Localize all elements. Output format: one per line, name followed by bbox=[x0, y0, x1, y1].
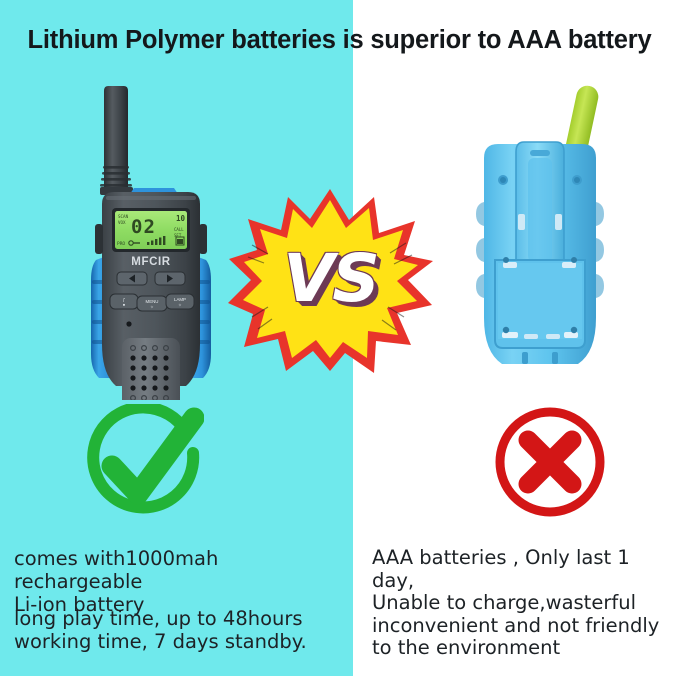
cross-circle-icon bbox=[492, 404, 608, 520]
comparison-infographic: Lithium Polymer batteries is superior to… bbox=[0, 0, 679, 687]
left-benefit-text-runtime: long play time, up to 48hours working ti… bbox=[14, 607, 349, 653]
svg-text:CALL: CALL bbox=[174, 227, 184, 232]
right-walkie-talkie-image bbox=[462, 84, 618, 404]
svg-text:PRO: PRO bbox=[117, 241, 125, 247]
svg-text:●: ● bbox=[123, 302, 126, 307]
check-circle-icon bbox=[82, 404, 204, 526]
left-walkie-talkie-image: SCAN VOX 10 CALL SET 02 PRO bbox=[84, 84, 218, 400]
svg-text:VOX: VOX bbox=[118, 220, 126, 225]
svg-text:SCAN: SCAN bbox=[118, 214, 129, 219]
svg-text:02: 02 bbox=[131, 216, 156, 238]
right-drawback-text: AAA batteries , Only last 1 day, Unable … bbox=[372, 547, 672, 660]
page-title: Lithium Polymer batteries is superior to… bbox=[0, 26, 679, 55]
device-brand-label: MFCIR bbox=[131, 256, 171, 268]
svg-text:☼: ☼ bbox=[178, 302, 182, 307]
svg-text:10: 10 bbox=[176, 214, 186, 223]
left-benefit-text-battery: comes with1000mah rechargeable Li-ion ba… bbox=[14, 547, 349, 616]
starburst-icon bbox=[228, 187, 433, 373]
vs-badge: VS bbox=[228, 187, 433, 373]
svg-text:☼: ☼ bbox=[150, 304, 154, 309]
